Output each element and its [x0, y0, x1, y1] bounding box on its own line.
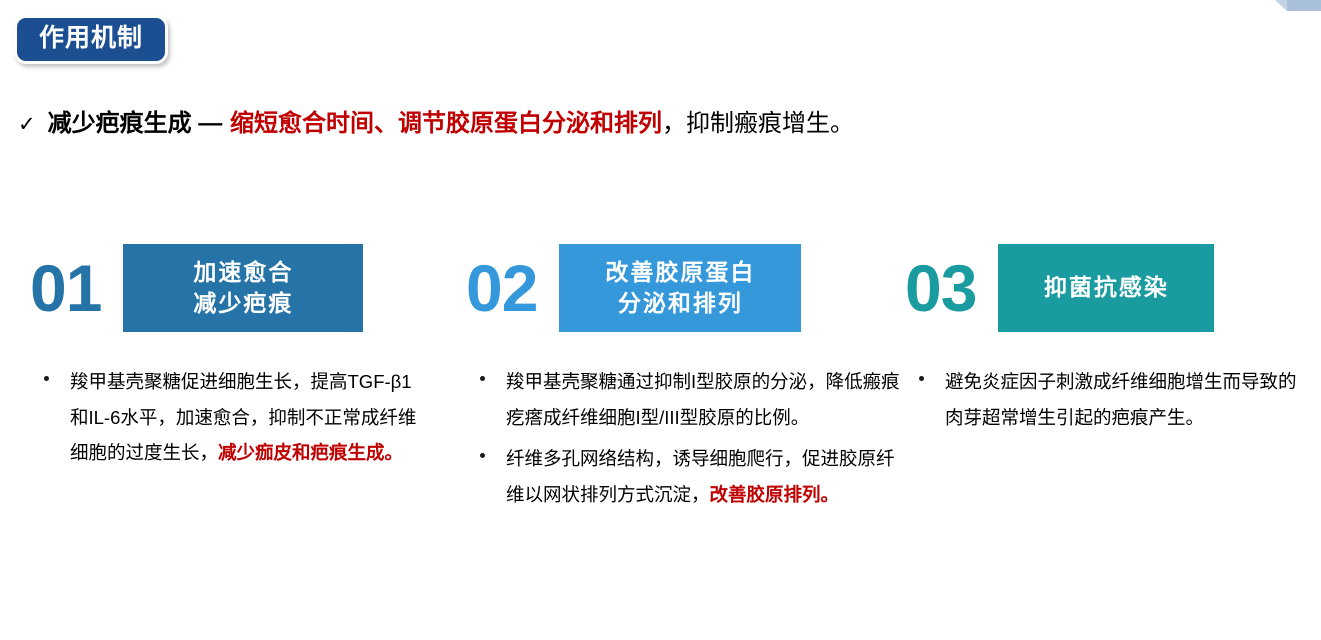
headline: ✓减少疤痕生成 — 缩短愈合时间、调节胶原蛋白分泌和排列，抑制瘢痕增生。 — [18, 108, 854, 139]
bullet-dot-icon — [919, 376, 924, 381]
bullet-dot-icon — [44, 376, 49, 381]
feature-label-box-01: 加速愈合 减少疤痕 — [123, 244, 363, 332]
title-badge: 作用机制 — [14, 15, 168, 64]
list-item: 纤维多孔网络结构，诱导细胞爬行，促进胶原纤维以网状排列方式沉淀，改善胶原排列。 — [466, 441, 906, 512]
list-item: 羧甲基壳聚糖促进细胞生长，提高TGF-β1和IL-6水平，加速愈合，抑制不正常成… — [30, 364, 430, 471]
bullet-red-text: 改善胶原排列。 — [710, 484, 840, 505]
feature-number-03: 03 — [905, 255, 976, 321]
feature-bullets-01: 羧甲基壳聚糖促进细胞生长，提高TGF-β1和IL-6水平，加速愈合，抑制不正常成… — [30, 364, 430, 471]
feature-number-01: 01 — [30, 255, 101, 321]
feature-label-box-02: 改善胶原蛋白 分泌和排列 — [559, 244, 801, 332]
bullet-text: 羧甲基壳聚糖通过抑制I型胶原的分泌，降低瘢痕疙瘩成纤维细胞I型/III型胶原的比… — [506, 371, 900, 428]
list-item: 避免炎症因子刺激成纤维细胞增生而导致的肉芽超常增生引起的疤痕产生。 — [905, 364, 1305, 435]
check-icon: ✓ — [18, 113, 36, 136]
bullet-dot-icon — [480, 453, 485, 458]
bullet-red-text: 减少痂皮和疤痕生成。 — [218, 442, 403, 463]
corner-decoration — [1287, 0, 1321, 11]
feature-label-01: 加速愈合 减少疤痕 — [193, 257, 293, 319]
list-item: 羧甲基壳聚糖通过抑制I型胶原的分泌，降低瘢痕疙瘩成纤维细胞I型/III型胶原的比… — [466, 364, 906, 435]
headline-lead: 减少疤痕生成 — [48, 110, 192, 137]
corner-decoration-triangle — [1275, 0, 1287, 11]
headline-dash: — — [198, 110, 223, 137]
feature-header-01: 01 加速愈合 减少疤痕 — [30, 240, 430, 336]
feature-label-box-03: 抑菌抗感染 — [998, 244, 1214, 332]
title-badge-container: 作用机制 — [14, 15, 168, 64]
feature-header-02: 02 改善胶原蛋白 分泌和排列 — [466, 240, 886, 336]
feature-header-03: 03 抑菌抗感染 — [905, 240, 1305, 336]
feature-column-01: 01 加速愈合 减少疤痕 羧甲基壳聚糖促进细胞生长，提高TGF-β1和IL-6水… — [30, 240, 430, 477]
feature-bullets-02: 羧甲基壳聚糖通过抑制I型胶原的分泌，降低瘢痕疙瘩成纤维细胞I型/III型胶原的比… — [466, 364, 886, 512]
feature-column-02: 02 改善胶原蛋白 分泌和排列 羧甲基壳聚糖通过抑制I型胶原的分泌，降低瘢痕疙瘩… — [466, 240, 886, 518]
feature-bullets-03: 避免炎症因子刺激成纤维细胞增生而导致的肉芽超常增生引起的疤痕产生。 — [905, 364, 1305, 435]
headline-tail: ，抑制瘢痕增生。 — [662, 110, 854, 137]
headline-emphasis: 缩短愈合时间、调节胶原蛋白分泌和排列 — [230, 110, 662, 137]
feature-number-02: 02 — [466, 255, 537, 321]
bullet-text: 避免炎症因子刺激成纤维细胞增生而导致的肉芽超常增生引起的疤痕产生。 — [945, 371, 1297, 428]
feature-column-03: 03 抑菌抗感染 避免炎症因子刺激成纤维细胞增生而导致的肉芽超常增生引起的疤痕产… — [905, 240, 1305, 441]
bullet-dot-icon — [480, 376, 485, 381]
feature-label-03: 抑菌抗感染 — [1044, 272, 1169, 303]
feature-label-02: 改善胶原蛋白 分泌和排列 — [605, 257, 755, 319]
title-badge-label: 作用机制 — [39, 24, 143, 53]
